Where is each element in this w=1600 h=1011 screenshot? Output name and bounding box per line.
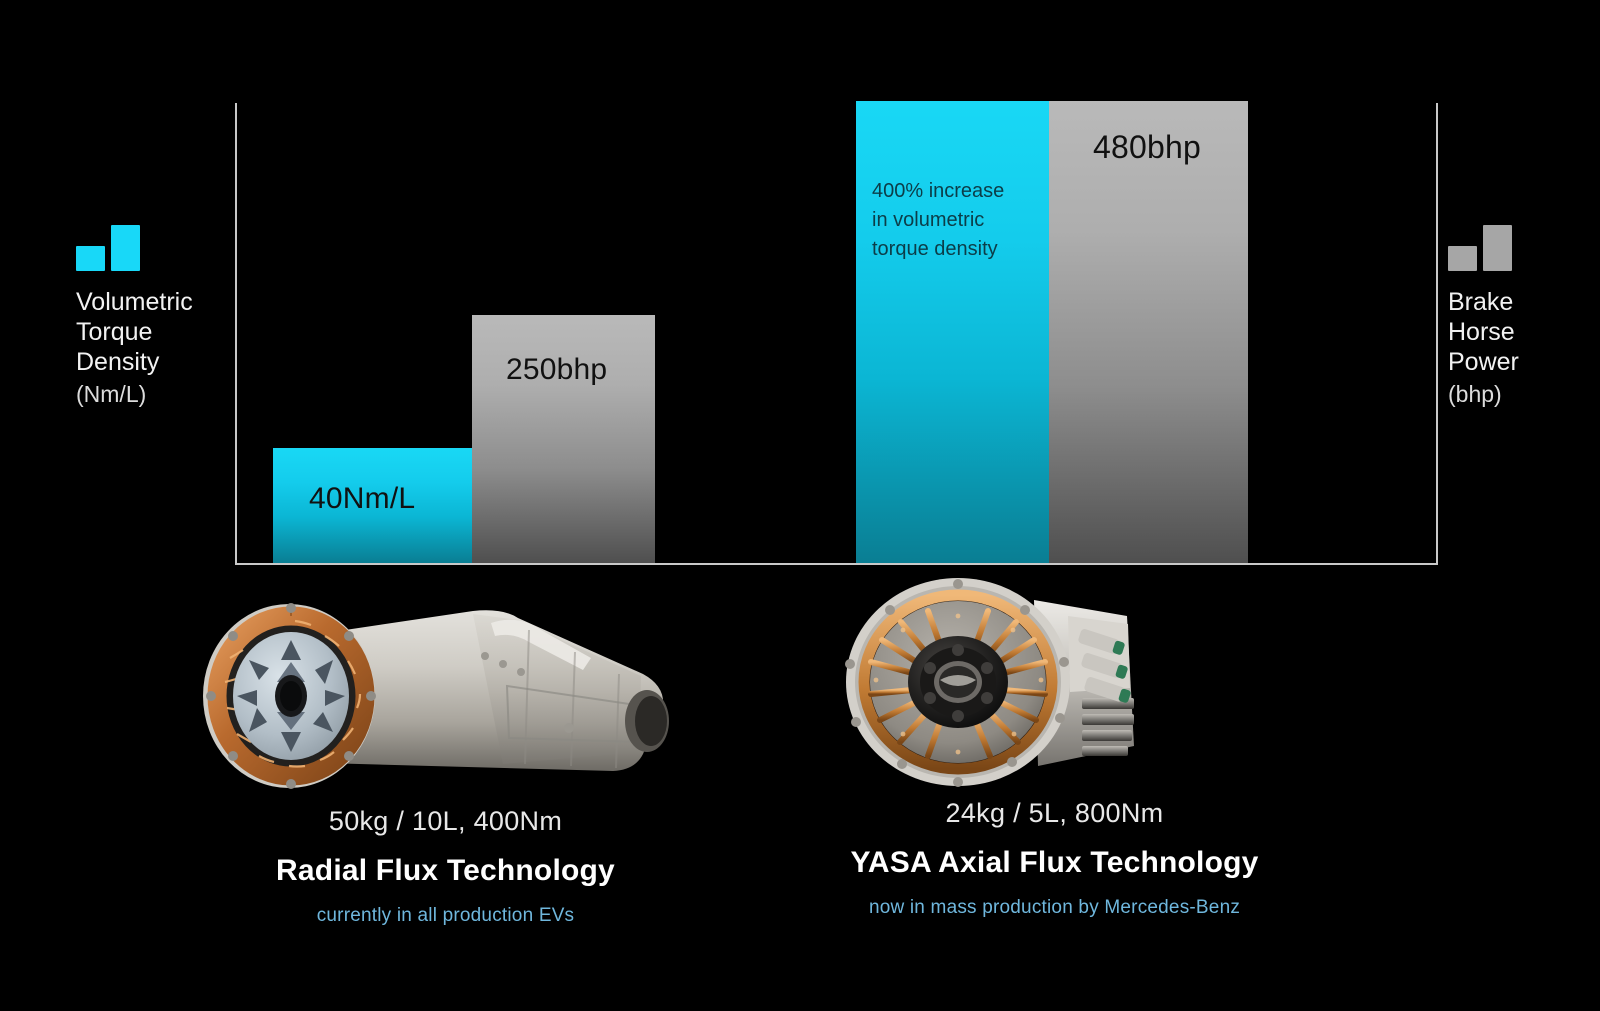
radial-flux-motor-photo xyxy=(173,578,718,790)
annotation-400-percent-increase: 400% increase in volumetric torque densi… xyxy=(872,177,1048,264)
yasa-spec: 24kg / 5L, 800Nm xyxy=(782,798,1327,829)
annotation-line3: torque density xyxy=(872,235,1048,264)
product-yasa-axial-flux: 24kg / 5L, 800Nm YASA Axial Flux Technol… xyxy=(782,570,1327,919)
bar-label-radial-bhp: 250bhp xyxy=(506,353,607,387)
legend-left-unit: (Nm/L) xyxy=(76,379,246,409)
bar-label-yasa-bhp: 480bhp xyxy=(1093,129,1201,166)
bar-chart-icon xyxy=(1448,225,1600,271)
radial-technology-name: Radial Flux Technology xyxy=(173,854,718,888)
legend-right-title-line2: Horse xyxy=(1448,317,1600,347)
legend-left-title-line3: Density xyxy=(76,347,246,377)
annotation-line1: 400% increase xyxy=(872,177,1048,206)
yasa-note: now in mass production by Mercedes-Benz xyxy=(782,897,1327,919)
yasa-technology-name: YASA Axial Flux Technology xyxy=(782,846,1327,880)
bar-yasa-brake-horse-power: 480bhp xyxy=(1049,101,1248,563)
legend-right-title-line1: Brake xyxy=(1448,287,1600,317)
radial-note: currently in all production EVs xyxy=(173,905,718,927)
bar-chart-icon xyxy=(76,225,246,271)
product-radial-flux: 50kg / 10L, 400Nm Radial Flux Technology… xyxy=(173,578,718,927)
bar-radial-brake-horse-power: 250bhp xyxy=(472,315,655,563)
legend-brake-horse-power: Brake Horse Power (bhp) xyxy=(1448,225,1600,409)
radial-spec: 50kg / 10L, 400Nm xyxy=(173,806,718,837)
legend-left-title-line1: Volumetric xyxy=(76,287,246,317)
legend-volumetric-torque-density: Volumetric Torque Density (Nm/L) xyxy=(76,225,246,409)
legend-right-unit: (bhp) xyxy=(1448,379,1600,409)
slide-canvas: Volumetric Torque Density (Nm/L) Brake H… xyxy=(0,0,1600,1011)
bar-radial-volumetric-torque-density: 40Nm/L xyxy=(273,448,472,563)
bar-yasa-volumetric-torque-density: 400% increase in volumetric torque densi… xyxy=(856,101,1049,563)
annotation-line2: in volumetric xyxy=(872,206,1048,235)
bar-label-radial-torque: 40Nm/L xyxy=(309,482,415,516)
legend-left-title-line2: Torque xyxy=(76,317,246,347)
axial-flux-motor-photo xyxy=(782,570,1327,782)
bar-chart-plot-area: 40Nm/L 250bhp 400% increase in volumetri… xyxy=(235,103,1438,565)
legend-right-title-line3: Power xyxy=(1448,347,1600,377)
